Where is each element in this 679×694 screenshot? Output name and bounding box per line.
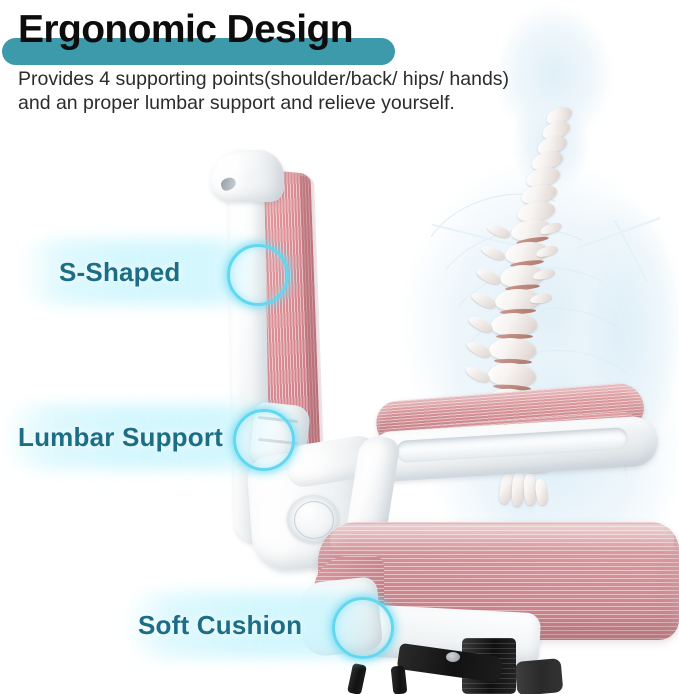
subtitle-line-1: Provides 4 supporting points(shoulder/ba… xyxy=(18,68,509,92)
chair-mechanism-screw xyxy=(446,652,460,662)
callout-label-lumbar-support: Lumbar Support xyxy=(18,422,223,453)
callout-label-s-shaped: S-Shaped xyxy=(59,257,181,288)
callout-label-soft-cushion: Soft Cushion xyxy=(138,610,302,641)
chair-base-arm-right xyxy=(391,665,408,694)
tilt-knob-ring xyxy=(294,501,334,539)
highlight-ring-s-shaped xyxy=(227,244,289,306)
subtitle-line-2: and an proper lumbar support and relieve… xyxy=(18,92,455,116)
seat-front-contour xyxy=(330,524,674,554)
chair-base-arm-left xyxy=(347,663,367,694)
highlight-ring-soft-cushion xyxy=(332,597,394,659)
product-feature-graphic: Ergonomic Design Provides 4 supporting p… xyxy=(0,0,679,694)
page-title: Ergonomic Design xyxy=(18,10,353,49)
highlight-ring-lumbar-support xyxy=(233,409,295,471)
chair-base-hub xyxy=(515,658,564,694)
backrest-top-highlight xyxy=(218,156,258,172)
